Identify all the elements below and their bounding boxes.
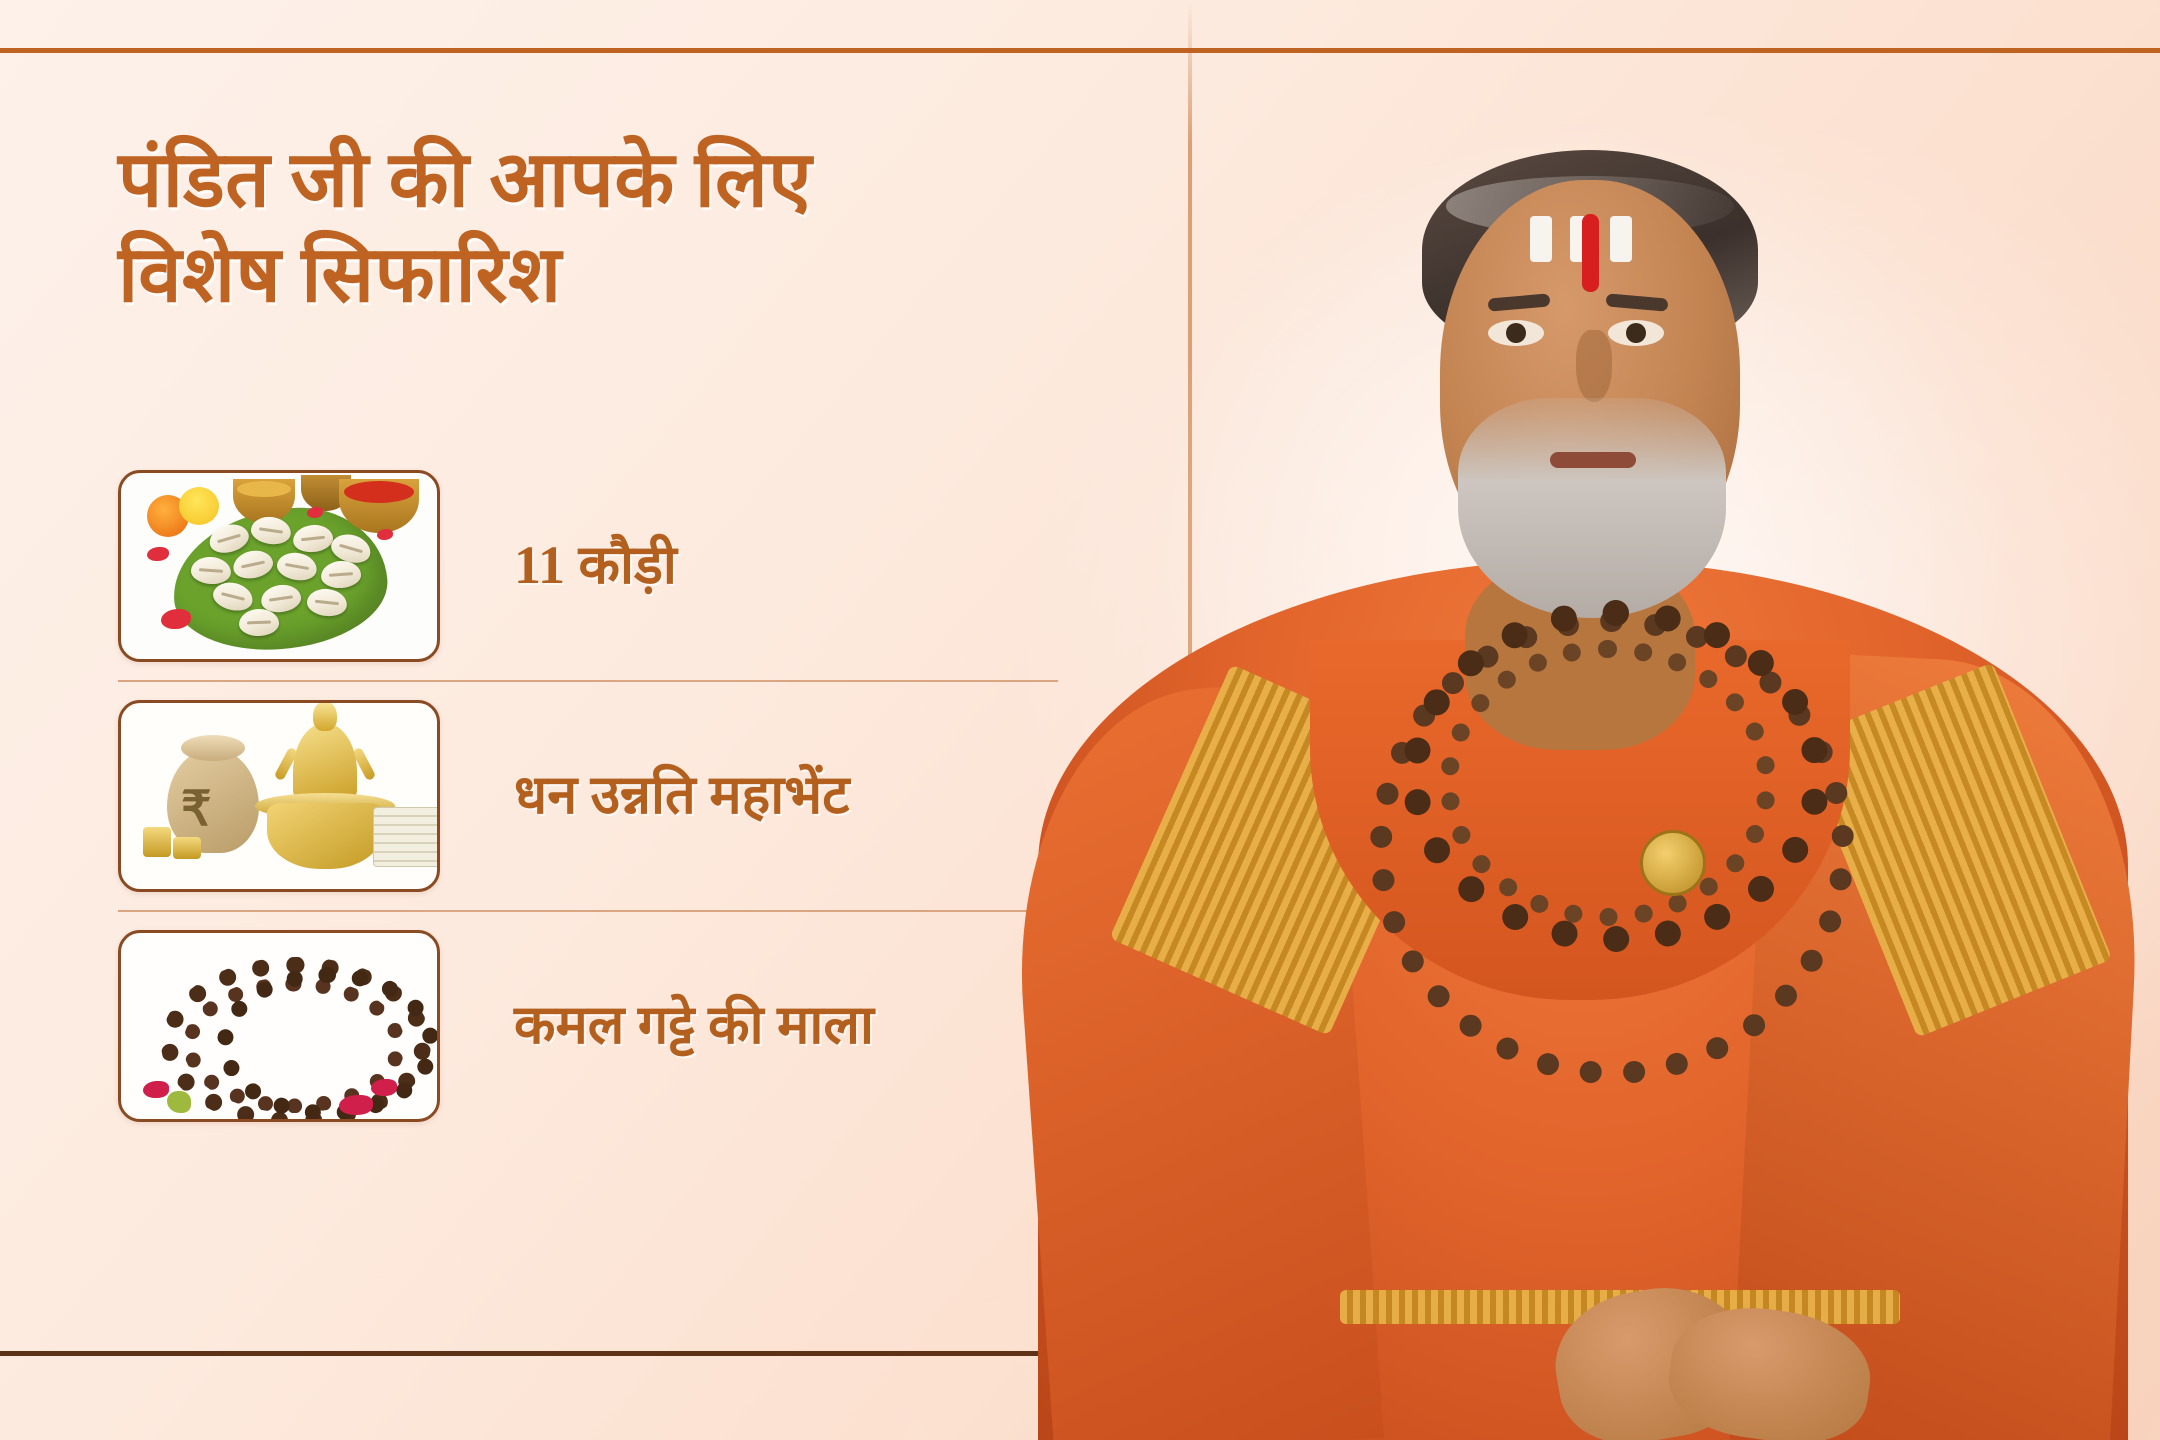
thumbnail-art: ₹ — [121, 703, 437, 889]
thumbnail-art — [121, 933, 437, 1119]
mouth — [1550, 452, 1636, 468]
gold-pendant — [1640, 830, 1706, 896]
list-item-label: कमल गट्टे की माला — [514, 996, 874, 1055]
promo-banner: पंडित जी की आपके लिए विशेष सिफारिश — [0, 0, 2160, 1440]
golden-lakshmi-idol-with-money-thumbnail[interactable]: ₹ — [118, 700, 440, 892]
rudraksha-mala-inner — [1440, 640, 1776, 926]
beard — [1458, 398, 1726, 618]
list-item-label: धन उन्नति महाभेंट — [514, 766, 849, 825]
list-item-label: 11 कौड़ी — [514, 536, 677, 595]
cowrie-shells-on-betel-leaf-thumbnail[interactable] — [118, 470, 440, 662]
pandit-ji-portrait — [1010, 0, 2160, 1440]
eye-left — [1488, 320, 1544, 346]
nose — [1576, 330, 1612, 402]
red-tilak-icon — [1582, 214, 1599, 292]
list-item[interactable]: 11 कौड़ी — [118, 452, 1058, 680]
page-title: पंडित जी की आपके लिए विशेष सिफारिश — [118, 132, 1158, 322]
lotus-seed-mala-beads-thumbnail[interactable] — [118, 930, 440, 1122]
headline-line-2: विशेष सिफारिश — [118, 227, 1158, 322]
eye-right — [1608, 320, 1664, 346]
recommendation-list: 11 कौड़ी ₹ — [118, 452, 1058, 1140]
list-item[interactable]: कमल गट्टे की माला — [118, 910, 1058, 1140]
thumbnail-art — [121, 473, 437, 659]
headline-line-1: पंडित जी की आपके लिए — [118, 132, 1158, 227]
list-item[interactable]: ₹ धन उन्नति महाभेंट — [118, 680, 1058, 910]
